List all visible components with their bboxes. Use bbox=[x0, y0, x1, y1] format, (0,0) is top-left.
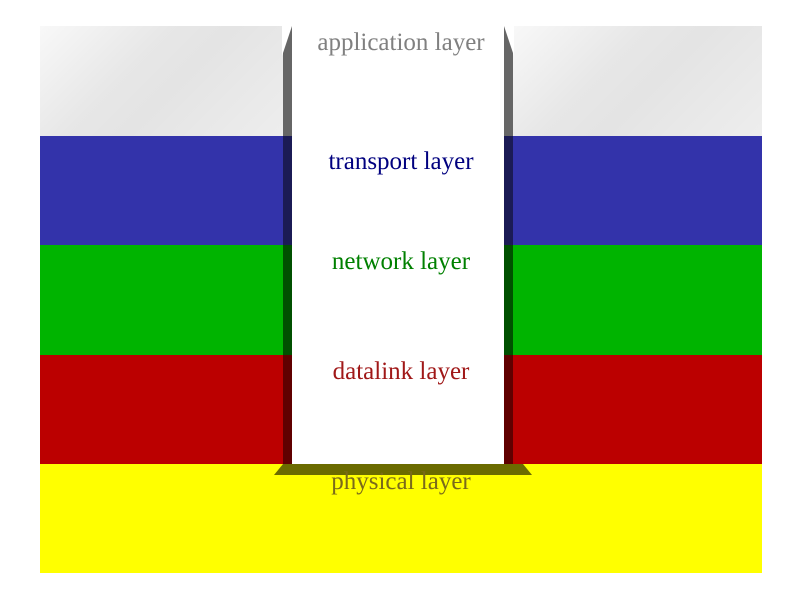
diagram-canvas: application layer transport layer networ… bbox=[0, 0, 800, 600]
layer-label-transport: transport layer bbox=[229, 147, 573, 177]
layer-label-datalink: datalink layer bbox=[229, 357, 573, 387]
left-stack-tower bbox=[40, 26, 283, 464]
right-stack-tower bbox=[513, 26, 762, 464]
layer-label-application: application layer bbox=[229, 28, 573, 58]
layer-label-column: application layer transport layer networ… bbox=[289, 0, 513, 600]
layer-label-physical: physical layer bbox=[229, 467, 573, 497]
layer-label-network: network layer bbox=[229, 247, 573, 277]
